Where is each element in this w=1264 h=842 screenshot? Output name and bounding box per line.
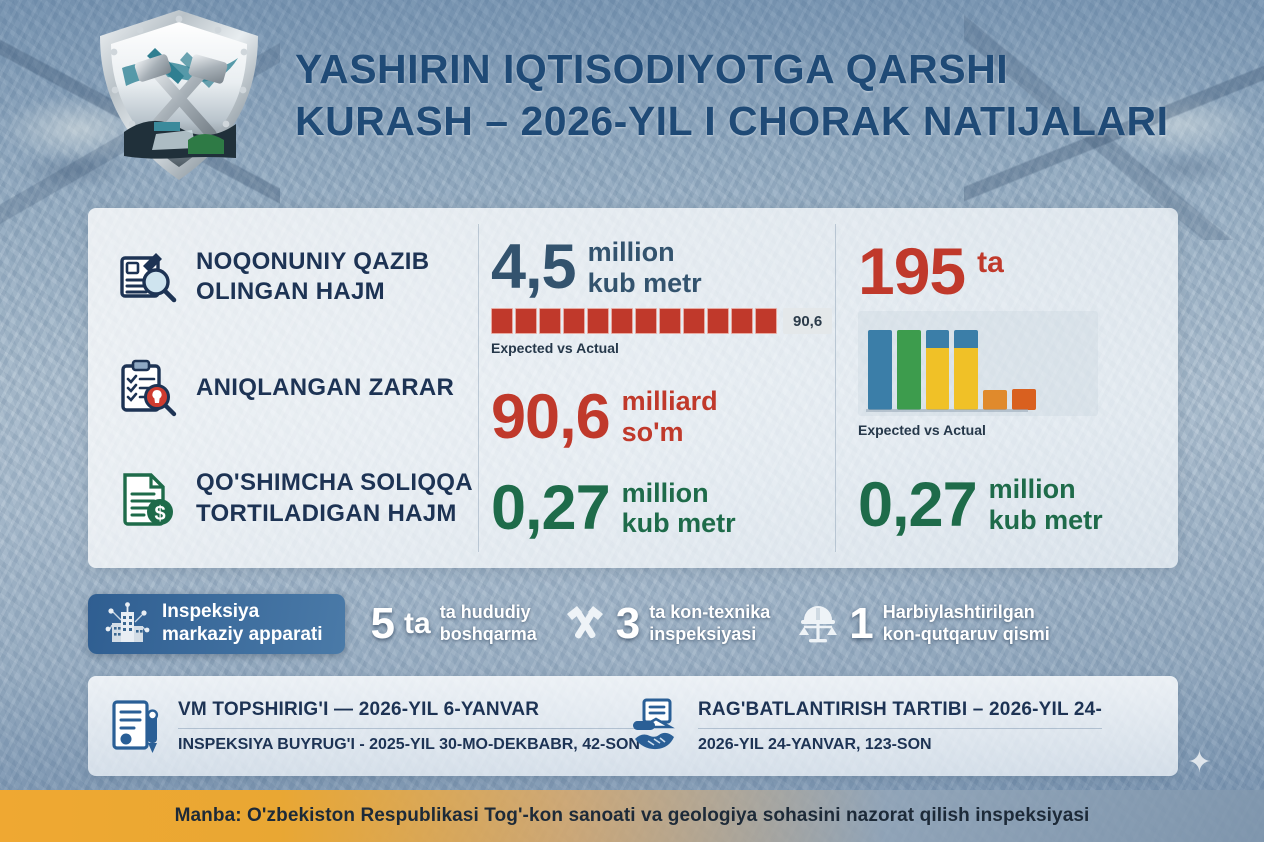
progress-segment [563,308,585,334]
unit-suffix: ta [404,609,431,639]
inspections-count-bar-chart [858,311,1098,416]
header: YASHIRIN IQTISODIYOTGA QARSHI KURASH – 2… [0,0,1264,190]
metric-unit-line1: million [622,478,736,509]
inspections-column: 195 ta [836,208,1178,568]
source-text: Manba: O'zbekiston Respublikasi Tog'-kon… [175,805,1090,827]
metric-unit-line1: million [588,237,702,268]
main-statistics-panel: NOQONUNIY QAZIB OLINGAN HAJM [88,208,1178,568]
sparkle-decoration: ✦ [1187,745,1212,780]
unit-central-apparatus[interactable]: Inspeksiya markaziy apparati [88,594,345,654]
progress-segments [491,308,777,334]
chart-baseline [866,409,1028,412]
metric-unit-line2: kub metr [989,505,1103,536]
progress-segment [611,308,633,334]
organisation-units-band: Inspeksiya markaziy apparati 5 ta ta hud… [88,588,1178,660]
unit-label: ta hududiy boshqarma [440,602,537,645]
document-rule [698,728,1102,729]
metric-value-detected-damage: 90,6 milliard so'm [491,386,823,448]
title-line-1: YASHIRIN IQTISODIYOTGA QARSHI [295,43,1169,95]
metric-label-illegal-volume: NOQONUNIY QAZIB OLINGAN HAJM [116,246,478,308]
document-line-1: VM TOPSHIRIG'I — 2026-YIL 6-YANVAR [178,699,640,721]
inspections-count-number: 195 [858,240,965,303]
metric-unit: million kub metr [622,478,736,540]
unit-label-line2: inspeksiyasi [649,624,770,646]
progress-segment [635,308,657,334]
metric-number: 0,27 [491,478,610,538]
progress-segment [659,308,681,334]
metric-unit-line2: so'm [622,417,718,448]
metric-number: 0,27 [858,475,977,535]
chart-bar [954,330,978,410]
inspections-volume-metric: 0,27 million kub metr [858,474,1166,536]
metric-labels-column: NOQONUNIY QAZIB OLINGAN HAJM [88,208,478,568]
unit-label-line1: ta kon-texnika [649,602,770,624]
document-line-2: INSPEKSIYA BUYRUG'I - 2025-YIL 30-MO-DEK… [178,736,640,754]
unit-mining-technical-inspections: 3 ta kon-texnika inspeksiyasi [563,602,771,646]
source-footer: Manba: O'zbekiston Respublikasi Tog'-kon… [0,790,1264,842]
document-handshake-icon [630,697,682,755]
building-network-icon [104,602,148,646]
mining-inspection-shield-emblem [92,6,267,184]
progress-segment [539,308,561,334]
metric-label-text: NOQONUNIY QAZIB OLINGAN HAJM [196,247,478,307]
metric-value-additional-tax: 0,27 million kub metr [491,478,823,540]
chart-bar [926,330,950,410]
metric-number: 4,5 [491,237,576,297]
inspections-count-unit: ta [977,246,1004,280]
unit-count: 3 [616,602,640,646]
document-line-1: RAG'BATLANTIRISH TARTIBI – 2026-YIL 24- [698,699,1102,721]
chip-line-2: markaziy apparati [162,624,323,647]
progress-value-label: 90,6 [783,308,832,334]
metric-value-illegal-volume: 4,5 million kub metr 90,6 Expected vs Ac… [491,237,823,357]
svg-text:$: $ [154,503,165,525]
metric-values-column: 4,5 million kub metr 90,6 Expected vs Ac… [479,208,835,568]
document-dollar-icon: $ [116,468,178,530]
progress-segment [515,308,537,334]
document-reference-vm-order[interactable]: VM TOPSHIRIG'I — 2026-YIL 6-YANVAR INSPE… [88,697,608,755]
legal-documents-strip: VM TOPSHIRIG'I — 2026-YIL 6-YANVAR INSPE… [88,676,1178,776]
metric-unit-line1: million [989,474,1103,505]
inspections-count-block: 195 ta [858,240,1166,438]
unit-count: 1 [849,602,873,646]
chart-bars [858,311,1036,416]
progress-segment [683,308,705,334]
unit-militarized-rescue-unit: 1 Harbiylashtirilgan kon-qutqaruv qismi [796,602,1050,646]
metric-unit: milliard so'm [622,386,718,448]
unit-label-line2: boshqarma [440,624,537,646]
metric-label-text: ANIQLANGAN ZARAR [196,373,454,403]
unit-regional-departments: 5 ta ta hududiy boshqarma [371,602,537,646]
progress-segment [755,308,777,334]
metric-unit-line2: kub metr [622,508,736,539]
metric-number: 90,6 [491,387,610,447]
unit-count: 5 [371,602,395,646]
document-magnifier-icon [116,246,178,308]
unit-label-line1: Harbiylashtirilgan [883,602,1050,624]
progress-bar-caption: Expected vs Actual [491,340,823,356]
unit-label: Harbiylashtirilgan kon-qutqaruv qismi [883,602,1050,645]
metric-label-additional-tax: $ QO'SHIMCHA SOLIQQA TORTILADIGAN HAJM [116,468,478,530]
progress-segment [707,308,729,334]
crossed-hammers-icon [563,602,607,646]
chart-bar [897,330,921,410]
chart-bar [868,330,892,410]
hidden-economy-progress-bar: 90,6 [491,308,823,334]
metric-unit-line1: milliard [622,386,718,417]
page-title: YASHIRIN IQTISODIYOTGA QARSHI KURASH – 2… [295,43,1169,148]
document-line-2: 2026-YIL 24-YANVAR, 123-SON [698,736,1102,754]
unit-label-line2: kon-qutqaruv qismi [883,624,1050,646]
chart-caption: Expected vs Actual [858,422,1166,438]
chip-line-1: Inspeksiya [162,601,323,624]
progress-segment [587,308,609,334]
chart-bar [983,390,1007,410]
metric-label-text: QO'SHIMCHA SOLIQQA TORTILADIGAN HAJM [196,468,478,528]
document-lines: RAG'BATLANTIRISH TARTIBI – 2026-YIL 24- … [698,699,1102,754]
unit-central-apparatus-label: Inspeksiya markaziy apparati [162,601,323,647]
metric-unit: million kub metr [588,237,702,299]
unit-label-line1: ta hududiy [440,602,537,624]
progress-segment [491,308,513,334]
document-rule [178,728,640,729]
chart-bar [1012,389,1036,411]
document-pen-icon [110,697,162,755]
document-reference-incentive-procedure[interactable]: RAG'BATLANTIRISH TARTIBI – 2026-YIL 24- … [608,697,1178,755]
document-lines: VM TOPSHIRIG'I — 2026-YIL 6-YANVAR INSPE… [178,699,640,754]
title-line-2: KURASH – 2026-YIL I CHORAK NATIJALARI [295,95,1169,147]
helmet-scales-icon [796,602,840,646]
progress-segment [731,308,753,334]
metric-unit: million kub metr [989,474,1103,536]
metric-unit-line2: kub metr [588,268,702,299]
unit-label: ta kon-texnika inspeksiyasi [649,602,770,645]
metric-label-detected-damage: ANIQLANGAN ZARAR [116,357,478,419]
clipboard-checklist-magnifier-icon [116,357,178,419]
